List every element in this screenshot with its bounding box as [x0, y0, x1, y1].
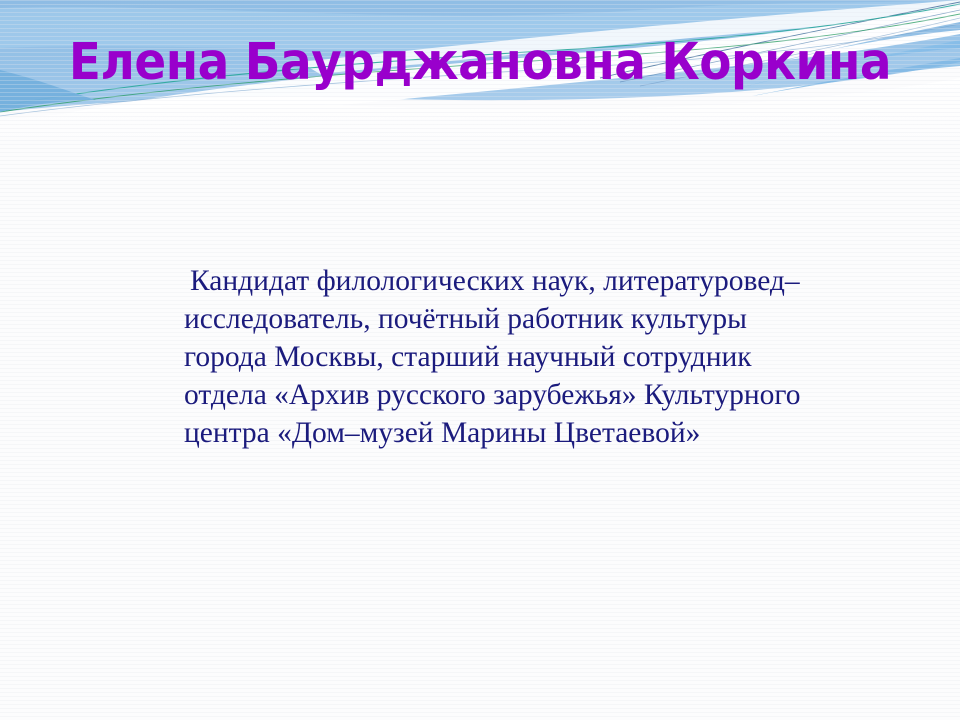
slide-title: Елена Баурджановна Коркина: [38, 34, 921, 92]
body-paragraph: Кандидат филологических наук, литературо…: [160, 262, 810, 452]
presentation-slide: Елена Баурджановна Коркина Кандидат фило…: [0, 0, 960, 720]
slide-body: Кандидат филологических наук, литературо…: [160, 262, 810, 452]
